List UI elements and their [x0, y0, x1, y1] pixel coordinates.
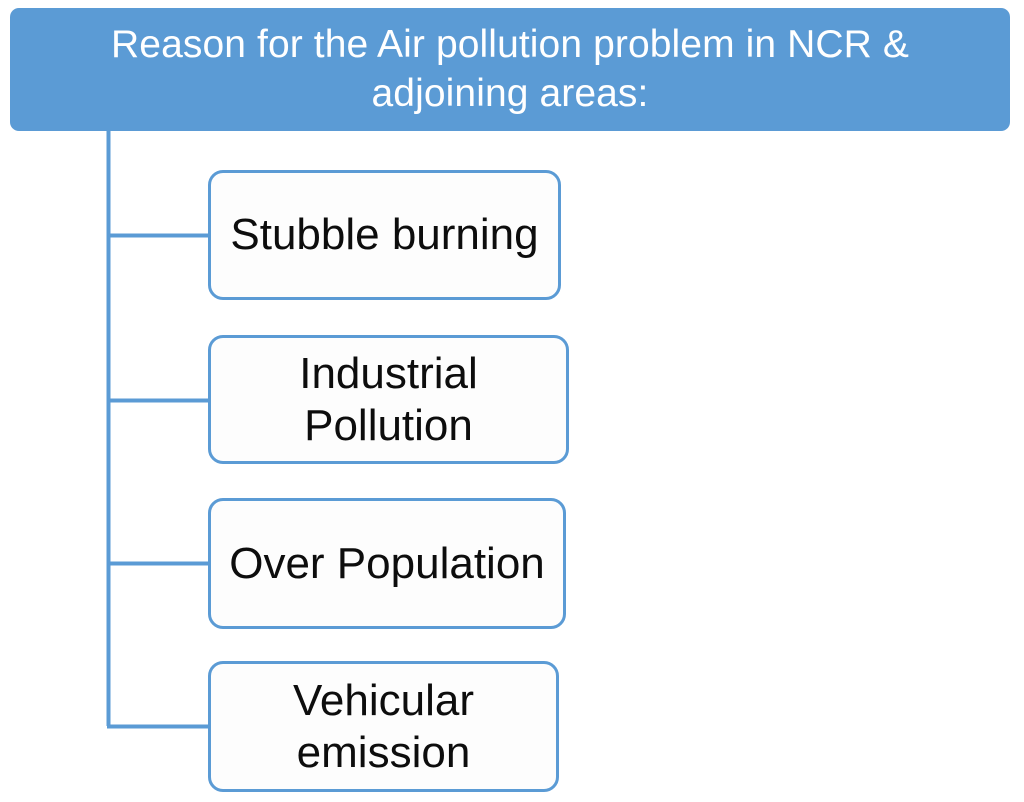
node-box-stubble-burning: Stubble burning: [208, 170, 561, 300]
diagram-canvas: Reason for the Air pollution problem in …: [0, 0, 1024, 802]
node-label: Over Population: [229, 538, 545, 589]
root-node-banner: Reason for the Air pollution problem in …: [10, 8, 1010, 131]
node-box-vehicular-emission: Vehicular emission: [208, 661, 559, 792]
node-box-over-population: Over Population: [208, 498, 566, 629]
node-label: Vehicular emission: [293, 675, 474, 778]
node-label: Industrial Pollution: [299, 348, 478, 451]
node-label: Stubble burning: [230, 209, 538, 260]
root-node-title: Reason for the Air pollution problem in …: [111, 21, 909, 118]
node-box-industrial-pollution: Industrial Pollution: [208, 335, 569, 464]
